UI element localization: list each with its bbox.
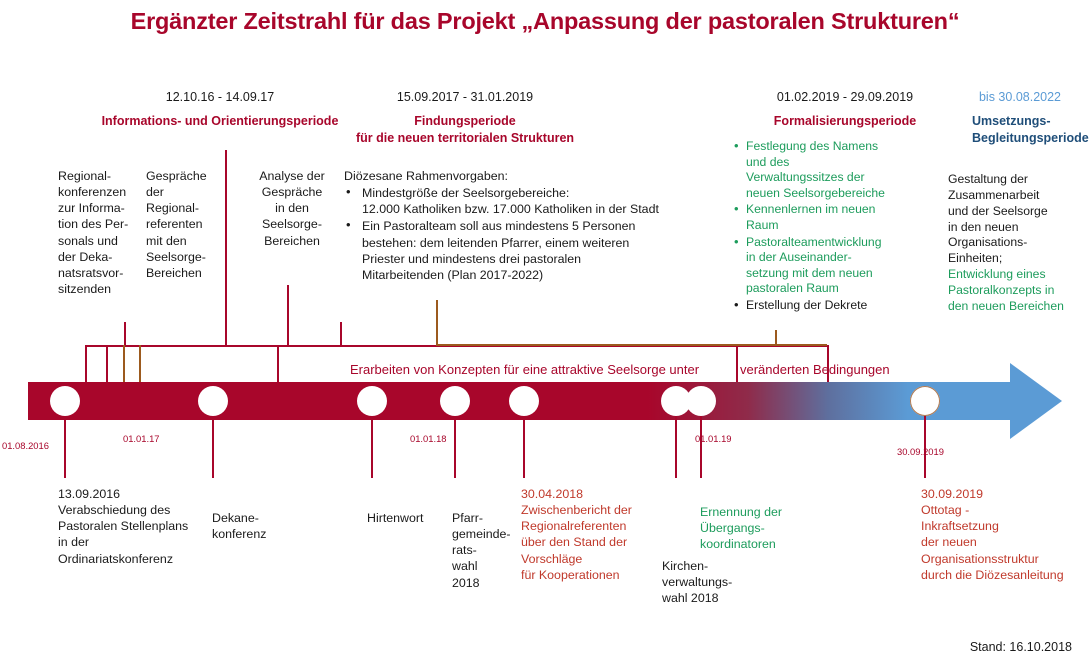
findungsperiode-content: Diözesane Rahmenvorgaben: Mindestgröße d…: [344, 168, 724, 283]
milestone-node[interactable]: [440, 386, 470, 416]
list-item: Erstellung der Dekrete: [732, 298, 922, 314]
period-1-date: 12.10.16 - 14.09.17: [130, 90, 310, 104]
bracket-drop: [123, 345, 125, 382]
connector-tick: [340, 322, 342, 346]
connector-tick: [124, 322, 126, 346]
leader-line: [523, 416, 525, 478]
period-2-name-line2: für die neuen territorialen Strukturen: [345, 131, 585, 147]
period-2-date: 15.09.2017 - 31.01.2019: [305, 90, 625, 104]
list-item: Pastoralteamentwicklung in der Auseinand…: [732, 235, 922, 297]
period-4-name-line1: Umsetzungs-: [972, 114, 1090, 130]
umsetzung-black-text: Gestaltung der Zusammenarbeit und der Se…: [948, 172, 1088, 267]
axis-tick-label: 01.08.2016: [2, 440, 49, 451]
umsetzungsperiode-content: Gestaltung der Zusammenarbeit und der Se…: [948, 172, 1088, 315]
list-item: Mindestgröße der Seelsorgebereiche: 12.0…: [344, 185, 724, 217]
formalisierungsperiode-bullet-list: Festlegung des Namens und des Verwaltung…: [732, 139, 922, 314]
event-label: Ernennung der Übergangs- koordinatoren: [700, 504, 815, 552]
formalisierungsperiode-content: Festlegung des Namens und des Verwaltung…: [732, 138, 922, 314]
event-label: 30.09.2019 Ottotag - Inkraftsetzung der …: [921, 486, 1090, 583]
band-label-right: veränderten Bedingungen: [740, 362, 890, 377]
leader-line: [454, 416, 456, 478]
connector-tick: [287, 285, 289, 346]
page-title: Ergänzter Zeitstrahl für das Projekt „An…: [0, 8, 1090, 35]
event-label: 13.09.2016 Verabschiedung des Pastoralen…: [58, 486, 233, 567]
period-2-name-line1: Findungsperiode: [345, 114, 585, 130]
axis-tick-label: 01.01.17: [123, 433, 160, 444]
event-label: Hirtenwort: [367, 510, 449, 526]
column-gespraeche-regionalreferenten: Gespräche der Regional- referenten mit d…: [146, 168, 224, 281]
band-label-left: Erarbeiten von Konzepten für eine attrak…: [350, 362, 699, 377]
list-item: Festlegung des Namens und des Verwaltung…: [732, 139, 922, 201]
axis-tick-label: 30.09.2019: [897, 446, 944, 457]
period-3-name: Formalisierungsperiode: [730, 114, 960, 130]
leader-line: [700, 416, 702, 478]
connector-divider-1: [225, 150, 227, 346]
list-item: Kennenlernen im neuen Raum: [732, 202, 922, 233]
bracket-drop: [106, 345, 108, 382]
column-regionalkonferenzen: Regional- konferenzen zur Informa- tion …: [58, 168, 140, 297]
event-label: Pfarr- gemeinde- rats- wahl 2018: [452, 510, 522, 591]
milestone-node[interactable]: [50, 386, 80, 416]
period-4-date: bis 30.08.2022: [960, 90, 1080, 104]
list-item: Ein Pastoralteam soll aus mindestens 5 P…: [344, 218, 724, 283]
leader-line: [212, 416, 214, 478]
findungsperiode-intro: Diözesane Rahmenvorgaben:: [344, 168, 724, 184]
bracket-drop: [277, 345, 279, 382]
milestone-node[interactable]: [910, 386, 940, 416]
milestone-node[interactable]: [198, 386, 228, 416]
axis-tick-label: 01.01.18: [410, 433, 447, 444]
period-1-name: Informations- und Orientierungsperiode: [60, 114, 380, 130]
leader-line: [64, 416, 66, 478]
bracket-drop: [736, 345, 738, 382]
bracket-brown-stub: [775, 330, 777, 345]
period-3-date: 01.02.2019 - 29.09.2019: [730, 90, 960, 104]
event-label: Dekane- konferenz: [212, 510, 297, 542]
bracket-brown-stub-left: [436, 300, 438, 345]
bracket-drop: [139, 345, 141, 382]
leader-line: [371, 416, 373, 478]
event-label: 30.04.2018 Zwischenbericht der Regionalr…: [521, 486, 651, 583]
bracket-horizontal-brown: [436, 344, 827, 346]
milestone-node[interactable]: [686, 386, 716, 416]
stand-footer: Stand: 16.10.2018: [970, 640, 1072, 654]
leader-line: [924, 416, 926, 478]
milestone-node[interactable]: [357, 386, 387, 416]
period-4-name-line2: Begleitungsperiode: [972, 131, 1090, 147]
column-analyse-gespraeche: Analyse der Gespräche in den Seelsorge- …: [238, 168, 346, 249]
event-label: Kirchen- verwaltungs- wahl 2018: [662, 558, 767, 606]
milestone-node[interactable]: [509, 386, 539, 416]
findungsperiode-bullet-list: Mindestgröße der Seelsorgebereiche: 12.0…: [344, 185, 724, 283]
bracket-left-drop: [85, 345, 87, 382]
timeline-arrow-head: [1010, 363, 1062, 439]
leader-line: [675, 416, 677, 478]
timeline-diagram: Ergänzter Zeitstrahl für das Projekt „An…: [0, 0, 1090, 668]
umsetzung-green-text: Entwicklung eines Pastoralkonzepts in de…: [948, 267, 1088, 315]
